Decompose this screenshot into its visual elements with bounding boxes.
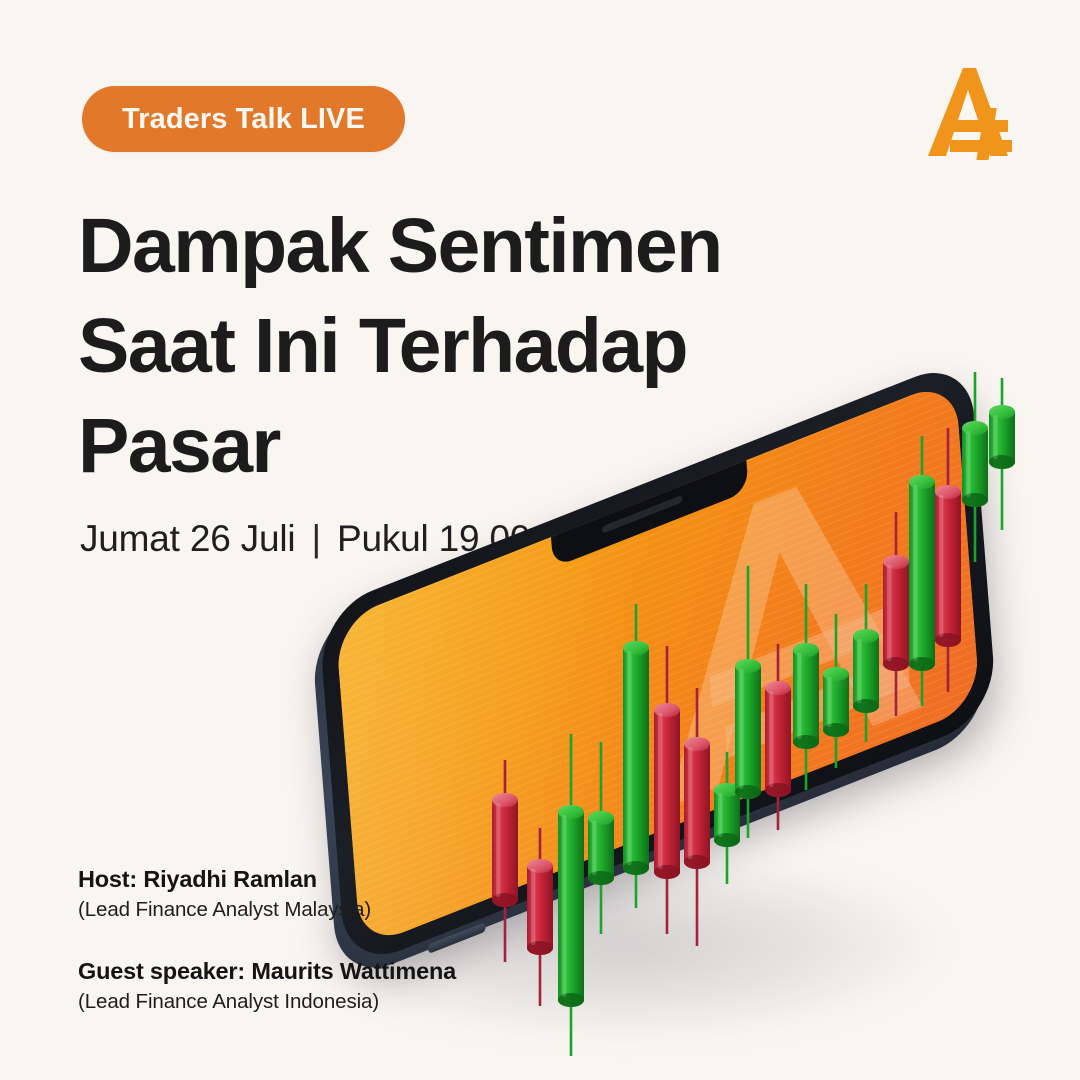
guest-name: Guest speaker: Maurits Wattimena	[78, 958, 456, 985]
host-name: Host: Riyadhi Ramlan	[78, 866, 456, 893]
live-badge-label: Traders Talk LIVE	[122, 103, 365, 136]
headline-line-2: Saat Ini Terhadap	[78, 296, 838, 396]
a-logo-watermark-icon	[622, 414, 952, 831]
promo-poster: Traders Talk LIVE Dampak Sentimen Saat I…	[0, 0, 1080, 1080]
schedule-date: Jumat 26 Juli	[80, 518, 295, 559]
live-badge: Traders Talk LIVE	[82, 86, 405, 152]
candle-up	[989, 378, 1015, 530]
schedule-separator: |	[311, 518, 320, 559]
host-credit: Host: Riyadhi Ramlan (Lead Finance Analy…	[78, 866, 456, 922]
host-role: (Lead Finance Analyst Malaysia)	[78, 898, 456, 922]
guest-credit: Guest speaker: Maurits Wattimena (Lead F…	[78, 958, 456, 1014]
headline-line-1: Dampak Sentimen	[78, 196, 838, 296]
accurate-a-logo-icon	[916, 62, 1022, 162]
credits-spacer	[78, 922, 456, 958]
credits-block: Host: Riyadhi Ramlan (Lead Finance Analy…	[78, 866, 456, 1014]
guest-role: (Lead Finance Analyst Indonesia)	[78, 990, 456, 1014]
